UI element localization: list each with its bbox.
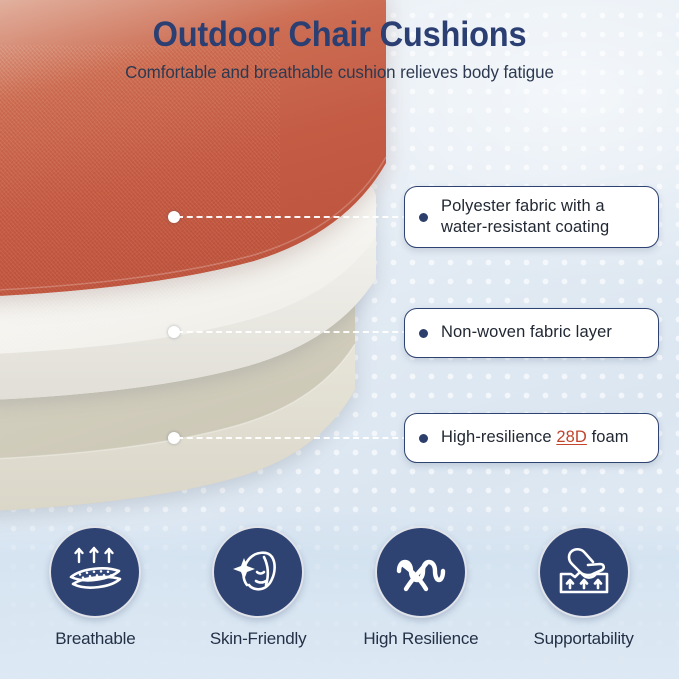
callout-polyester-fabric[interactable]: Polyester fabric with a water-resistant … — [404, 186, 659, 248]
breathable-fabric-arrows-icon — [66, 546, 124, 598]
spring-coil-icon — [392, 549, 450, 595]
page-subtitle: Comfortable and breathable cushion relie… — [10, 62, 669, 83]
bullet-dot-icon — [419, 329, 428, 338]
feature-label-breathable: Breathable — [55, 629, 135, 649]
callout-text-foam: High-resilience 28D foam — [441, 427, 629, 448]
connector-line-nonwoven — [168, 331, 408, 333]
face-sparkle-icon — [230, 545, 286, 599]
infographic-canvas: Polyester fabric with a water-resistant … — [0, 0, 679, 679]
connector-line-fabric — [168, 216, 408, 218]
callout-text-polyester: Polyester fabric with a water-resistant … — [441, 196, 609, 238]
feature-label-skin-friendly: Skin-Friendly — [210, 629, 307, 649]
callout-line-1: Polyester fabric with a — [441, 197, 605, 215]
feature-label-high-resilience: High Resilience — [363, 629, 478, 649]
callout-nonwoven-layer[interactable]: Non-woven fabric layer — [404, 308, 659, 358]
feature-row: Breathable Skin-Friendly — [0, 526, 679, 671]
feature-supportability[interactable]: Supportability — [509, 526, 659, 649]
connector-dash-fabric — [177, 216, 408, 218]
feature-icon-circle — [538, 526, 630, 618]
feature-icon-circle — [212, 526, 304, 618]
foam-text-suffix: foam — [587, 428, 629, 446]
feature-skin-friendly[interactable]: Skin-Friendly — [183, 526, 333, 649]
feature-breathable[interactable]: Breathable — [20, 526, 170, 649]
cushion-layer-illustration — [0, 70, 470, 540]
connector-dash-nonwoven — [177, 331, 408, 333]
callout-line-2: water-resistant coating — [441, 218, 609, 236]
feature-icon-circle — [49, 526, 141, 618]
connector-line-foam — [168, 437, 408, 439]
callout-text-nonwoven: Non-woven fabric layer — [441, 322, 612, 343]
feature-high-resilience[interactable]: High Resilience — [346, 526, 496, 649]
bullet-dot-icon — [419, 434, 428, 443]
feature-icon-circle — [375, 526, 467, 618]
foam-density-highlight: 28D — [556, 428, 587, 446]
bullet-dot-icon — [419, 213, 428, 222]
feature-label-supportability: Supportability — [534, 629, 634, 649]
foam-text-prefix: High-resilience — [441, 428, 556, 446]
page-title: Outdoor Chair Cushions — [24, 17, 655, 52]
hand-pressing-foam-icon — [555, 545, 613, 599]
connector-dash-foam — [177, 437, 408, 439]
callout-foam-density[interactable]: High-resilience 28D foam — [404, 413, 659, 463]
